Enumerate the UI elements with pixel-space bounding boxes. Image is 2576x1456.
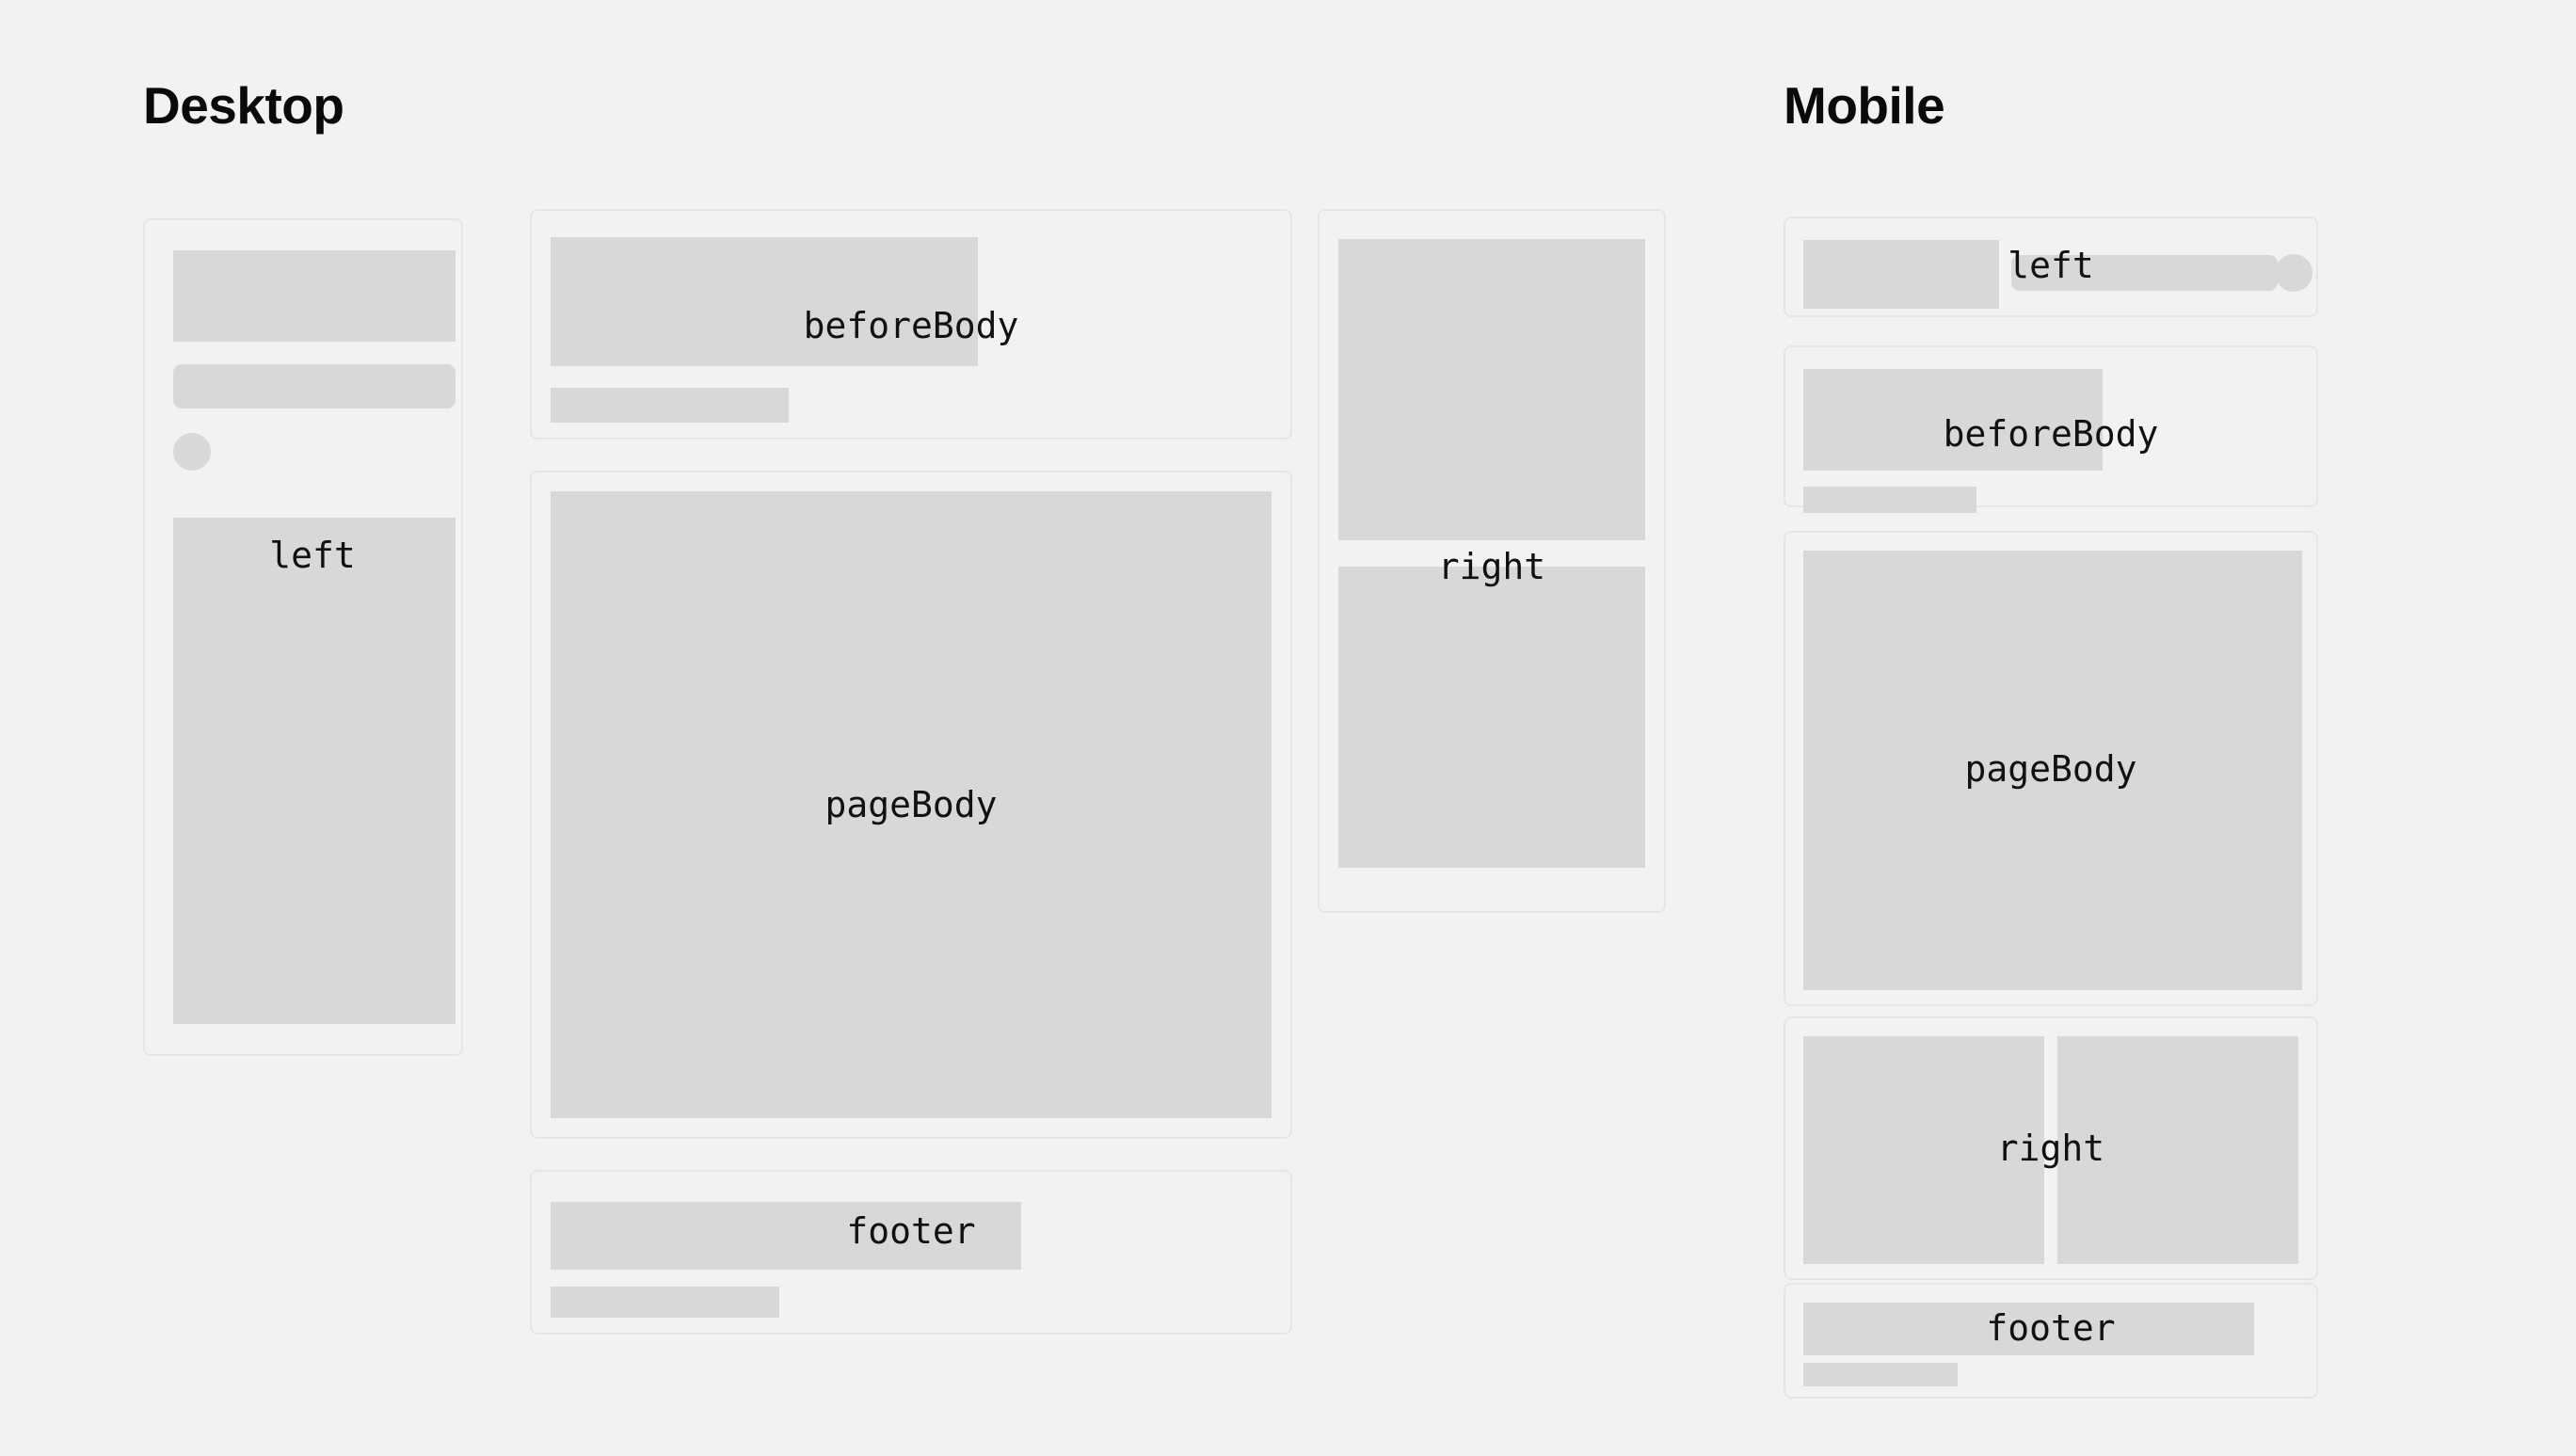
desktop-beforebody-small-block [551, 388, 789, 423]
desktop-footer-wide-block [551, 1202, 1021, 1270]
desktop-footer-panel[interactable] [530, 1170, 1292, 1335]
mobile-beforebody-small-block [1803, 487, 1976, 513]
desktop-beforebody-panel[interactable] [530, 209, 1292, 440]
desktop-section-title: Desktop [143, 80, 344, 132]
mobile-beforebody-wide-block [1803, 369, 2103, 471]
desktop-left-panel[interactable] [143, 218, 463, 1056]
desktop-left-avatar-circle [173, 433, 211, 471]
desktop-left-header-block [173, 250, 456, 342]
mobile-right-panel[interactable] [1784, 1016, 2318, 1280]
mobile-footer-small-block [1803, 1363, 1958, 1386]
mobile-left-header-block [1803, 240, 1999, 309]
desktop-footer-small-block [551, 1287, 779, 1318]
desktop-left-rounded-bar [173, 364, 456, 408]
mobile-footer-wide-block [1803, 1303, 2254, 1355]
desktop-left-nav-block [173, 518, 456, 1024]
desktop-right-upper-block [1338, 239, 1645, 540]
desktop-pagebody-body-block [551, 491, 1272, 1118]
mobile-right-left-block [1803, 1036, 2044, 1264]
mobile-left-avatar-circle [2275, 254, 2312, 292]
desktop-beforebody-wide-block [551, 237, 978, 366]
desktop-pagebody-panel[interactable] [530, 471, 1292, 1139]
mobile-left-rounded-bar [2011, 255, 2278, 291]
mobile-section-title: Mobile [1784, 80, 1944, 132]
mobile-footer-panel[interactable] [1784, 1283, 2318, 1399]
desktop-right-panel[interactable] [1318, 209, 1666, 913]
mobile-beforebody-panel[interactable] [1784, 345, 2318, 507]
mobile-pagebody-panel[interactable] [1784, 531, 2318, 1006]
mobile-left-panel[interactable] [1784, 216, 2318, 317]
mobile-right-right-block [2057, 1036, 2298, 1264]
desktop-right-lower-block [1338, 567, 1645, 868]
mobile-pagebody-body-block [1803, 551, 2302, 990]
